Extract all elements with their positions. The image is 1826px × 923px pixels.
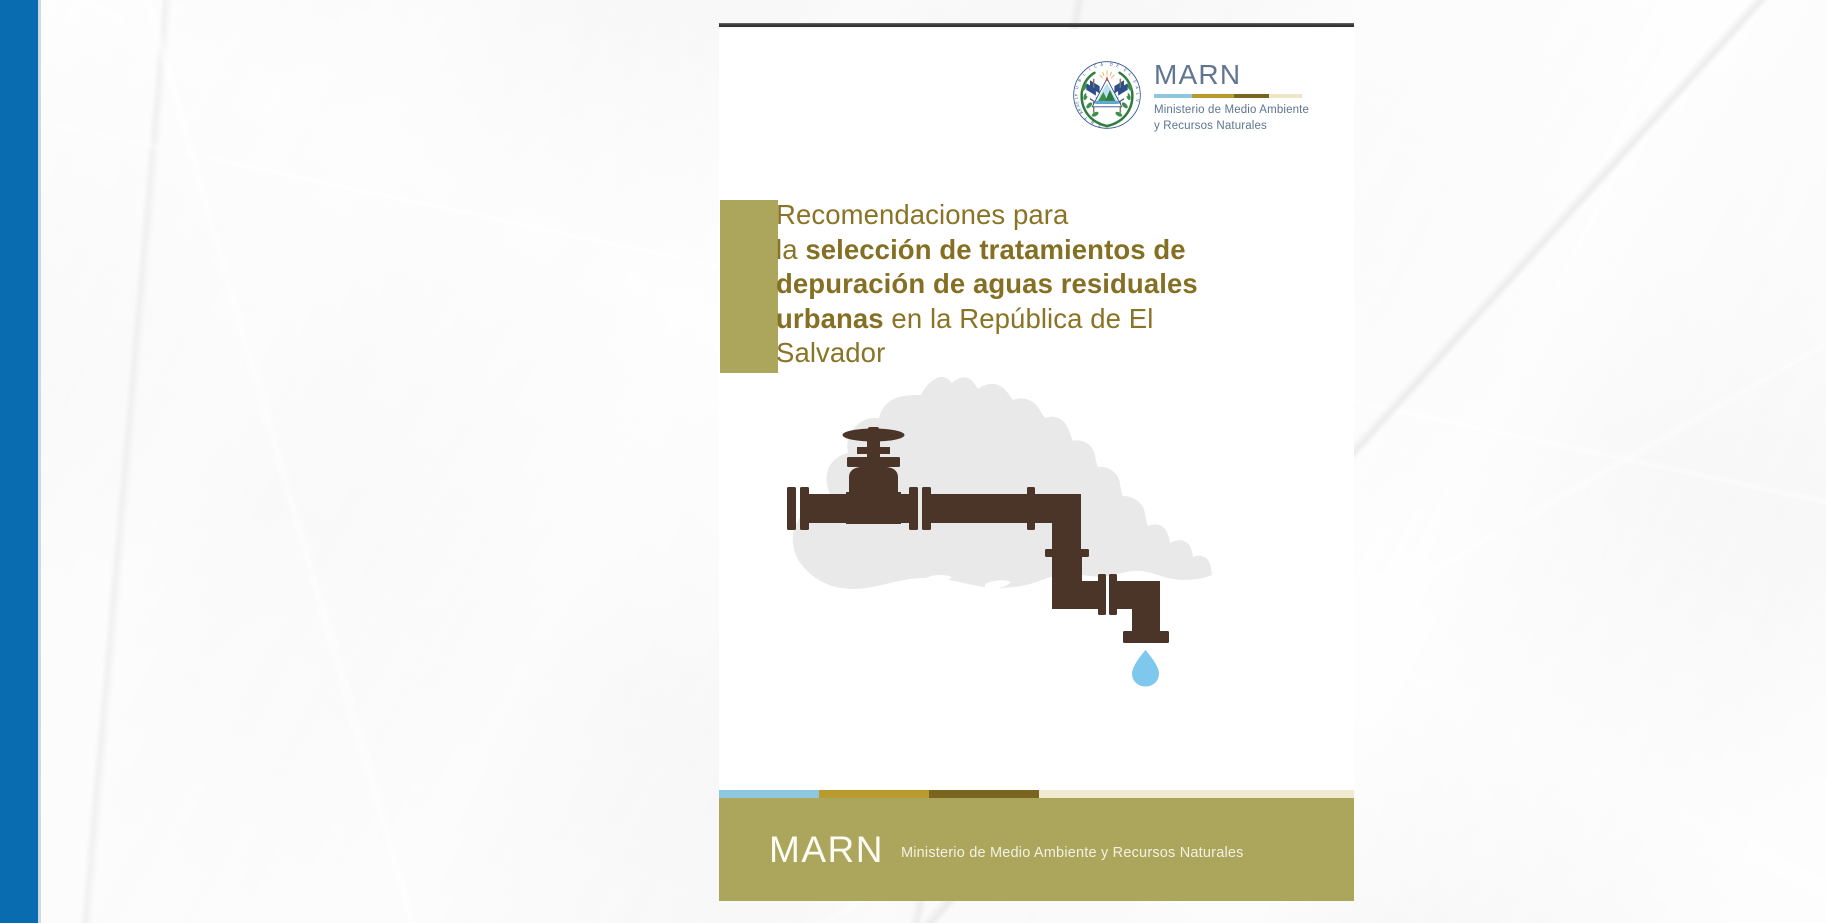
title-line-1: Recomendaciones para (776, 199, 1068, 230)
pipe-elbow-down-corner (1052, 494, 1081, 551)
valve-body (849, 467, 898, 494)
footer-rule-segment-1 (819, 790, 929, 798)
pipe-vertical-flange-1 (1045, 549, 1089, 557)
pipe-left-flange-2 (800, 487, 809, 530)
pipe-mid-flange-2 (922, 487, 931, 530)
title-line-4-bold: urbanas (776, 303, 884, 334)
marn-rule-segment-3 (1269, 94, 1302, 98)
page-top-rule (719, 23, 1354, 27)
marn-lockup: MARN Ministerio de Medio Ambiente y Recu… (1154, 58, 1309, 135)
pipe-left-flange (787, 487, 796, 530)
rail-edge-divider (38, 0, 41, 923)
pipe-horizontal-right (931, 494, 1029, 523)
marn-subtitle-line-2: y Recursos Naturales (1154, 119, 1309, 135)
footer-rule-segment-2 (929, 790, 1039, 798)
pipe-lower-flange-1 (1098, 574, 1106, 615)
footer-rule-strip (719, 790, 1354, 798)
valve-stem-collar (857, 447, 890, 454)
pipe-elbow1-flange (1027, 487, 1035, 530)
title-line-2-bold: selección de tratamientos de (805, 234, 1185, 265)
valve-body-base (846, 492, 901, 524)
water-droplet-icon (1132, 650, 1159, 687)
left-blue-rail (0, 0, 38, 923)
footer-rule-segment-3 (1039, 790, 1354, 798)
footer-rule-segment-0 (719, 790, 819, 798)
marn-subtitle-line-1: Ministerio de Medio Ambiente (1154, 103, 1309, 119)
marn-subtitle: Ministerio de Medio Ambiente y Recursos … (1154, 103, 1309, 135)
marn-header-logo: R E P U B L I C A D E E L S A L V C E N (1070, 58, 1309, 135)
document-page: R E P U B L I C A D E E L S A L V C E N (719, 29, 1354, 901)
title-line-3-bold: depuración de aguas residuales (776, 268, 1198, 299)
title-line-2-prefix: la (776, 234, 805, 265)
footer-tagline: Ministerio de Medio Ambiente y Recursos … (901, 838, 1244, 861)
title-accent-bar (720, 200, 778, 373)
footer-band: MARN Ministerio de Medio Ambiente y Recu… (719, 798, 1354, 901)
pipe-lower-flange-2 (1109, 574, 1117, 615)
marn-rule-segment-1 (1192, 94, 1233, 98)
el-salvador-map-pipe-illustration (749, 359, 1329, 689)
marn-rule-segment-2 (1234, 94, 1270, 98)
marn-wordmark: MARN (1154, 61, 1309, 89)
el-salvador-coat-of-arms-icon: R E P U B L I C A D E E L S A L V C E N (1070, 58, 1144, 132)
marn-rule-strip (1154, 94, 1302, 98)
page-title: Recomendaciones para la selección de tra… (776, 198, 1256, 371)
footer-marn-wordmark: MARN (769, 831, 884, 868)
pipe-mid-flange-1 (909, 487, 918, 530)
pipe-outlet-flange (1123, 631, 1169, 643)
pipe-elbow-right-run (1052, 581, 1098, 609)
valve-handwheel-hub (868, 427, 879, 439)
marn-rule-segment-0 (1154, 94, 1192, 98)
